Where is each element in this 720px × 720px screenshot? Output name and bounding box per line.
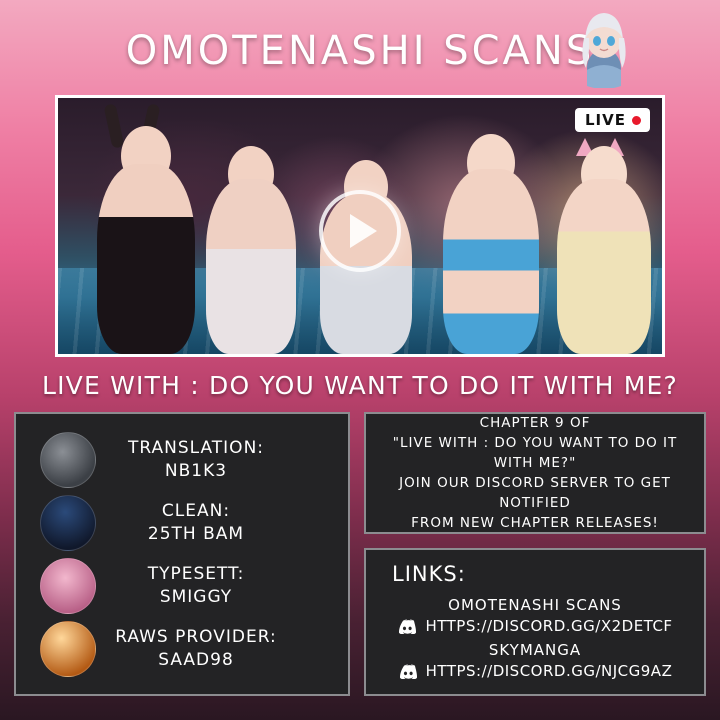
credit-role: RAWS PROVIDER: bbox=[96, 627, 296, 647]
header: OMOTENASHI SCANS bbox=[0, 0, 720, 95]
credit-name: NB1K3 bbox=[96, 461, 296, 481]
link-url-row[interactable]: HTTPS://DISCORD.GG/NJCG9AZ bbox=[376, 662, 694, 680]
character-1 bbox=[86, 124, 206, 354]
play-button-icon[interactable] bbox=[319, 190, 401, 272]
credit-name: SMIGGY bbox=[96, 587, 296, 607]
mascot-girl-icon bbox=[576, 8, 632, 88]
credit-name: SAAD98 bbox=[96, 650, 296, 670]
series-title: LIVE WITH : DO YOU WANT TO DO IT WITH ME… bbox=[0, 371, 720, 400]
live-badge: LIVE bbox=[575, 108, 650, 132]
link-url-text: HTTPS://DISCORD.GG/X2DETCF bbox=[425, 617, 672, 635]
live-dot-icon bbox=[632, 116, 641, 125]
page-title: OMOTENASHI SCANS bbox=[126, 22, 594, 74]
character-5 bbox=[544, 139, 664, 354]
link-server-name: SKYMANGA bbox=[376, 641, 694, 659]
notice-line-4: FROM NEW CHAPTER RELEASES! bbox=[411, 513, 659, 533]
release-credits-page: OMOTENASHI SCANS bbox=[0, 0, 720, 720]
right-column: CHAPTER 9 OF "LIVE WITH : DO YOU WANT TO… bbox=[364, 412, 706, 696]
link-url-row[interactable]: HTTPS://DISCORD.GG/X2DETCF bbox=[376, 617, 694, 635]
lower-section: TRANSLATION: NB1K3 CLEAN: 25TH BAM TYPES… bbox=[0, 412, 720, 710]
chapter-banner-image: LIVE bbox=[55, 95, 665, 357]
credit-row: TRANSLATION: NB1K3 bbox=[28, 432, 336, 488]
link-group-omotenashi: OMOTENASHI SCANS HTTPS://DISCORD.GG/X2DE… bbox=[376, 596, 694, 635]
credit-role: TRANSLATION: bbox=[96, 438, 296, 458]
avatar bbox=[40, 432, 96, 488]
credit-row: RAWS PROVIDER: SAAD98 bbox=[28, 621, 336, 677]
credit-row: TYPESETT: SMIGGY bbox=[28, 558, 336, 614]
notice-line-2: "LIVE WITH : DO YOU WANT TO DO IT WITH M… bbox=[376, 433, 694, 473]
discord-icon bbox=[397, 619, 417, 634]
credits-panel: TRANSLATION: NB1K3 CLEAN: 25TH BAM TYPES… bbox=[14, 412, 350, 696]
play-triangle-icon bbox=[350, 214, 377, 248]
character-4 bbox=[426, 129, 556, 354]
credit-text: RAWS PROVIDER: SAAD98 bbox=[96, 627, 336, 670]
credit-text: TYPESETT: SMIGGY bbox=[96, 564, 336, 607]
credit-role: CLEAN: bbox=[96, 501, 296, 521]
notice-panel: CHAPTER 9 OF "LIVE WITH : DO YOU WANT TO… bbox=[364, 412, 706, 534]
links-panel: LINKS: OMOTENASHI SCANS HTTPS://DISCORD.… bbox=[364, 548, 706, 696]
link-server-name: OMOTENASHI SCANS bbox=[376, 596, 694, 614]
credit-text: TRANSLATION: NB1K3 bbox=[96, 438, 336, 481]
discord-icon bbox=[398, 664, 418, 679]
credit-row: CLEAN: 25TH BAM bbox=[28, 495, 336, 551]
notice-line-3: JOIN OUR DISCORD SERVER TO GET NOTIFIED bbox=[376, 473, 694, 513]
avatar bbox=[40, 558, 96, 614]
credit-role: TYPESETT: bbox=[96, 564, 296, 584]
notice-line-1: CHAPTER 9 OF bbox=[480, 413, 591, 433]
character-2 bbox=[196, 139, 306, 354]
link-group-skymanga: SKYMANGA HTTPS://DISCORD.GG/NJCG9AZ bbox=[376, 641, 694, 680]
credit-text: CLEAN: 25TH BAM bbox=[96, 501, 336, 544]
link-url-text: HTTPS://DISCORD.GG/NJCG9AZ bbox=[426, 662, 673, 680]
avatar bbox=[40, 621, 96, 677]
credit-name: 25TH BAM bbox=[96, 524, 296, 544]
avatar bbox=[40, 495, 96, 551]
links-title: LINKS: bbox=[392, 562, 694, 586]
live-badge-label: LIVE bbox=[585, 111, 626, 129]
